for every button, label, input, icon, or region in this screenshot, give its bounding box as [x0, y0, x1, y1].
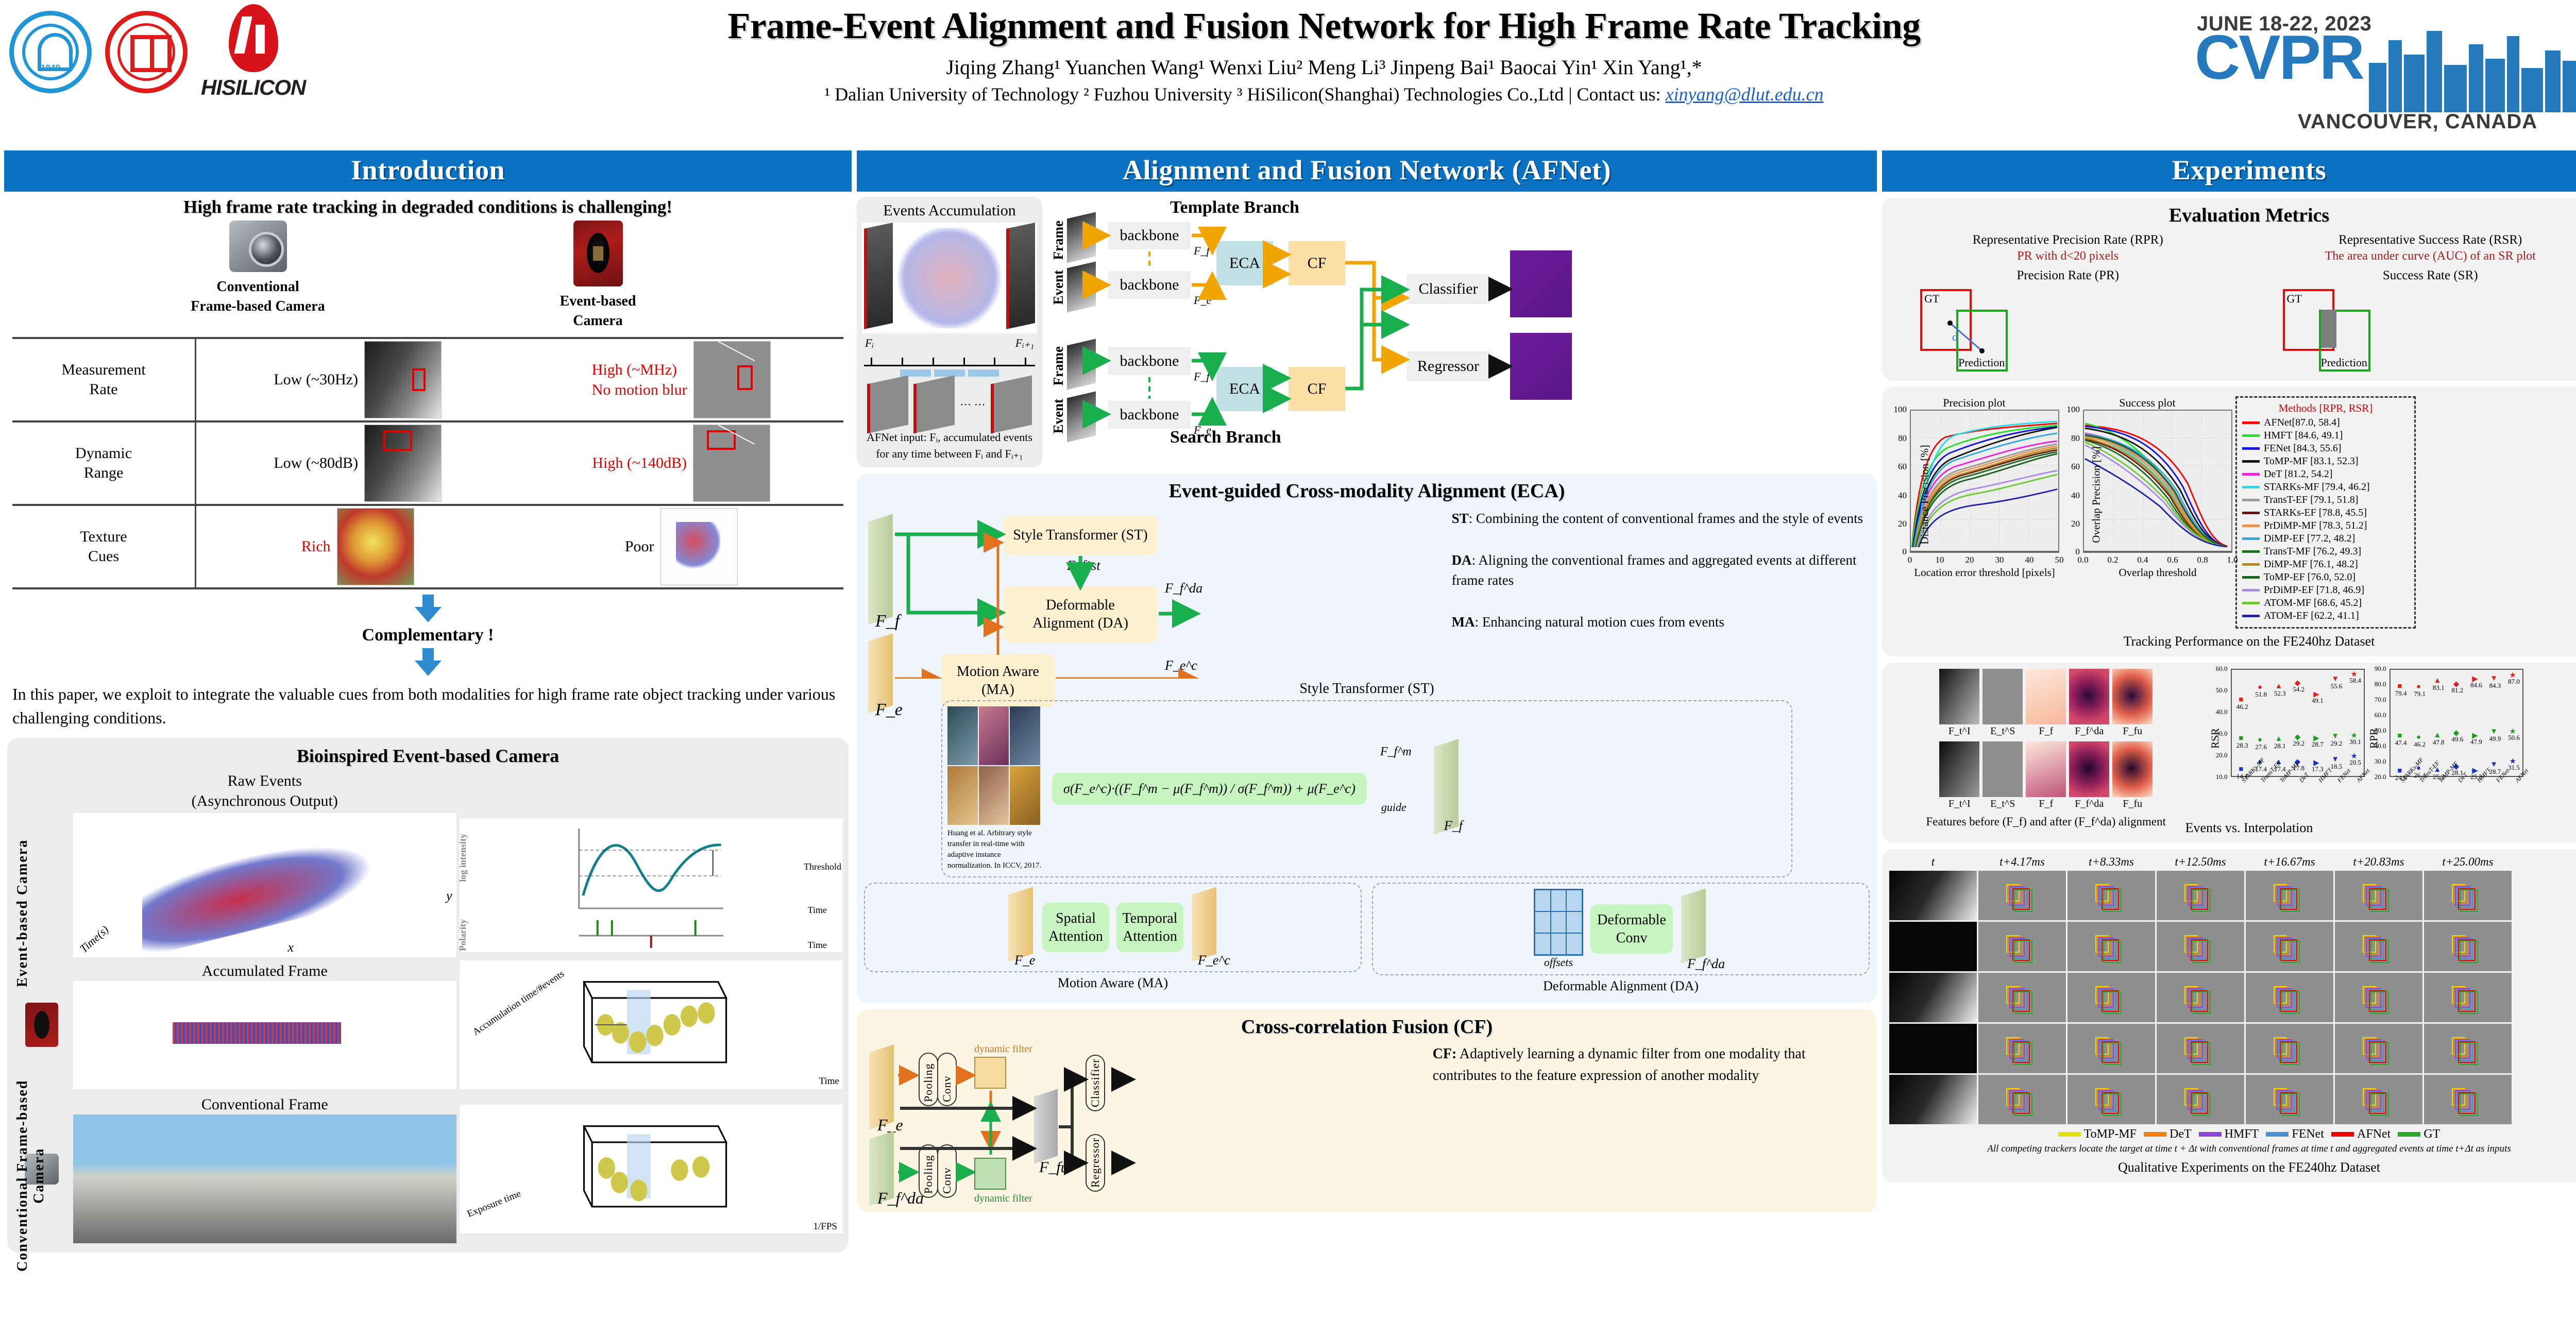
success-plot-title: Success plot — [2062, 396, 2232, 410]
feat-label-1: E_t^S — [1982, 725, 2023, 737]
pr-subtitle: Precision Rate (PR) — [1889, 268, 2247, 283]
scatter-value-label: 49.6 — [2451, 735, 2463, 743]
template-event-backbone: backbone — [1108, 271, 1191, 299]
feat-label-2: F_f — [2026, 725, 2066, 737]
classification-output-map — [1510, 250, 1572, 317]
tracking-performance-card: Precision plot — [1882, 387, 2576, 656]
feature-visualization: F_t^I E_t^S F_f F_f^da F_fu — [1889, 669, 2203, 828]
legend-item: TransT-EF [79.1, 51.8] — [2242, 494, 2409, 506]
qualitative-event-cell — [2424, 973, 2512, 1022]
template-ff-label: F_f — [1194, 244, 1210, 258]
sr-illustration: GT Prediction — [2252, 286, 2576, 374]
st-detail-card: Huang et al. Arbitrary style transfer in… — [941, 700, 1792, 877]
qualitative-note: All competing trackers locate the target… — [1889, 1143, 2576, 1155]
events-accumulation-card: Events Accumulation Fᵢ Fᵢ₊₁ — [857, 197, 1042, 467]
legend-item: DiMP-MF [76.1, 48.2] — [2242, 559, 2409, 570]
legend-item: DiMP-EF [77.2, 48.2] — [2242, 533, 2409, 545]
feat-label-2b: F_f — [2026, 798, 2066, 810]
event-texture-value: Poor — [625, 538, 654, 555]
qualitative-column-header: t — [1889, 855, 1977, 869]
eca-fe-label: F_e — [875, 700, 903, 720]
success-plot: Success plot — [2062, 396, 2232, 629]
frame-dynamic-value: Low (~80dB) — [274, 454, 358, 472]
rsr-y-label: RSR — [2209, 728, 2222, 749]
temporal-attention-block: Temporal Attention — [1116, 903, 1183, 952]
raw-events-caption: Raw Events (Asynchronous Output) — [73, 771, 456, 811]
qualitative-legend-item: FENet — [2266, 1127, 2324, 1141]
row-label-dynamic-range: Dynamic Range — [12, 421, 195, 505]
conventional-camera-label-1: Conventional — [173, 277, 343, 297]
legend-item: ToMP-EF [76.0, 52.0] — [2242, 571, 2409, 583]
event-texture-thumbnail — [660, 508, 738, 585]
complementary-label: Complementary ! — [4, 625, 852, 645]
accumulation-intervals — [862, 369, 1037, 377]
search-event-thumb — [1067, 392, 1096, 443]
da-detail-card: offsets Deformable Conv F_f^da — [1372, 883, 1870, 975]
template-event-thumb — [1067, 262, 1096, 313]
evaluation-metrics-title: Evaluation Metrics — [1889, 204, 2576, 227]
qualitative-event-cell — [2246, 973, 2333, 1022]
scatter-value-label: 17.3 — [2312, 765, 2324, 773]
qualitative-event-cell — [1978, 871, 2066, 920]
qualitative-event-cell — [1978, 973, 2066, 1022]
template-frame-row-label: Frame — [1050, 221, 1066, 260]
qualitative-event-cell — [2067, 922, 2155, 971]
qualitative-legend-item: AFNet — [2331, 1127, 2391, 1141]
frames-ellipsis: ⋯ ⋯ — [960, 398, 986, 411]
qualitative-event-cell — [2157, 1075, 2244, 1124]
affiliation-line: ¹ Dalian University of Technology ² Fuzh… — [453, 83, 2195, 105]
da-out-label: F_f^da — [1687, 956, 1725, 972]
ma-in-label: F_e — [1014, 953, 1035, 968]
style-transfer-examples — [947, 706, 1040, 825]
cf-title: Cross-correlation Fusion (CF) — [864, 1016, 1870, 1038]
qualitative-event-cell — [2246, 871, 2333, 920]
template-branch-title: Template Branch — [1170, 198, 1299, 217]
conventional-frame-caption: Conventional Frame — [73, 1094, 456, 1114]
pr-illustration: GT Prediction d — [1889, 286, 2247, 374]
conventional-camera-label-2: Frame-based Camera — [173, 297, 343, 316]
scatter-value-label: 47.4 — [2395, 739, 2407, 747]
qualitative-caption: Qualitative Experiments on the FE240hz D… — [1889, 1160, 2576, 1175]
event-dynamic-thumbnail — [693, 425, 770, 502]
feat-label-4: F_fu — [2112, 725, 2153, 737]
success-plot-axes — [2083, 410, 2232, 553]
eca-note-st: ST: Combining the content of conventiona… — [1452, 509, 1870, 529]
template-event-row-label: Event — [1050, 270, 1066, 305]
legend-item: PrDiMP-EF [71.8, 46.9] — [2242, 584, 2409, 596]
pr-distance-label: d — [1952, 330, 1958, 344]
camera-comparison-table: Measurement Rate Low (~30Hz) — [12, 337, 843, 589]
row-label-texture-cues: Texture Cues — [12, 505, 195, 588]
regression-output-map — [1510, 333, 1572, 400]
scatter-value-label: 84.3 — [2489, 682, 2501, 690]
vancouver-skyline-icon — [2365, 14, 2576, 112]
offsets-label: offsets — [1534, 956, 1583, 969]
feat-label-0b: F_t^I — [1939, 798, 1979, 810]
template-fe-label: F_e — [1194, 294, 1211, 307]
legend-item: ATOM-EF [62.2, 41.1] — [2242, 610, 2409, 622]
scatter-value-label: 55.6 — [2331, 682, 2343, 690]
qualitative-event-cell — [2157, 1024, 2244, 1073]
side-label-event-camera: Event-based Camera — [14, 800, 31, 1026]
offsets-grid — [1534, 889, 1583, 956]
scatter-value-label: 54.2 — [2293, 685, 2304, 694]
section-bar-afnet: Alignment and Fusion Network (AFNet) — [857, 150, 1877, 192]
qualitative-event-cell — [2246, 1075, 2333, 1124]
eca-card: Event-guided Cross-modality Alignment (E… — [857, 474, 1877, 1003]
qualitative-legend: ToMP-MFDeTHMFTFENetAFNetGT — [1889, 1127, 2576, 1141]
eca-flow-diagram: F_f F_e Style Transformer (ST) Deformabl… — [864, 509, 1442, 679]
bioinspired-panel: Bioinspired Event-based Camera Event-bas… — [7, 738, 849, 1253]
qualitative-event-cell — [2067, 1075, 2155, 1124]
scatter-value-label: 79.4 — [2395, 689, 2407, 698]
qualitative-event-cell — [1978, 1024, 2066, 1073]
legend-item: ToMP-MF [83.1, 52.3] — [2242, 455, 2409, 467]
event-measurement-value: High (~MHz) — [592, 361, 677, 378]
qualitative-frame-cell — [1889, 871, 1977, 920]
qualitative-column-header: t+20.83ms — [2335, 855, 2422, 869]
template-eca-block: ECA — [1216, 241, 1273, 285]
feat-label-3b: F_f^da — [2069, 798, 2109, 810]
eca-title: Event-guided Cross-modality Alignment (E… — [864, 480, 1870, 502]
qualitative-event-cell — [2067, 871, 2155, 920]
experiments-column: Experiments Evaluation Metrics Represent… — [1882, 150, 2576, 1319]
scatter-value-label: 49.1 — [2312, 697, 2324, 705]
rpr-scatter-plot: ■79.4●79.1▲83.1◆81.2▶84.6▼84.3★87.0■47.4… — [2369, 669, 2523, 828]
template-cf-block: CF — [1289, 241, 1345, 285]
qualitative-event-cell — [2424, 871, 2512, 920]
scatter-value-label: 30.1 — [2349, 738, 2361, 746]
introduction-lead: High frame rate tracking in degraded con… — [4, 197, 852, 217]
event-camera-cell: Event-based Camera — [513, 221, 683, 331]
legend-title: Methods [RPR, RSR] — [2242, 402, 2409, 415]
qualitative-row — [1889, 1075, 2576, 1124]
affiliation-text: ¹ Dalian University of Technology ² Fuzh… — [824, 84, 1660, 105]
scatter-value-label: 28.7 — [2312, 740, 2324, 749]
side-label-frame-camera: Conventional Frame-based Camera — [14, 1068, 47, 1284]
scatter-value-label: 31.5 — [2508, 764, 2520, 772]
qualitative-column-header: t+16.67ms — [2246, 855, 2333, 869]
qualitative-event-cell — [2424, 1024, 2512, 1073]
classifier-block: Classifier — [1407, 274, 1489, 304]
event-camera-label-2: Camera — [513, 311, 683, 331]
qualitative-event-cell — [2157, 922, 2244, 971]
st-fm-label: F_f^m — [1380, 745, 1412, 759]
search-frame-thumb — [1067, 339, 1096, 390]
qualitative-legend-item: DeT — [2144, 1127, 2192, 1141]
cell-frame-dynamic-range: Low (~80dB) — [195, 421, 519, 505]
scatter-value-label: 87.0 — [2508, 678, 2520, 686]
st-guide-label: guide — [1381, 801, 1406, 814]
ma-detail-wrapper: F_e Spatial Attention Temporal Attention… — [864, 883, 1362, 994]
template-frame-thumb — [1067, 212, 1096, 263]
cf-flow-diagram: F_e F_f^da Pooling Conv Pooling Conv dyn… — [864, 1043, 1420, 1203]
search-event-backbone: backbone — [1108, 401, 1191, 429]
frame-measurement-thumbnail — [364, 341, 442, 418]
table-row: Dynamic Range Low (~80dB) High — [12, 421, 843, 505]
qualitative-row — [1889, 973, 2576, 1022]
qualitative-event-cell — [2067, 1024, 2155, 1073]
da-out-slab — [1681, 888, 1706, 963]
scatter-value-label: 47.9 — [2470, 738, 2482, 746]
cell-frame-measurement: Low (~30Hz) — [195, 338, 519, 421]
qualitative-legend-item: ToMP-MF — [2058, 1127, 2137, 1141]
qualitative-event-cell — [2335, 922, 2422, 971]
qualitative-row — [1889, 871, 2576, 920]
feature-and-ablation-card: F_t^I E_t^S F_f F_f^da F_fu — [1882, 663, 2576, 843]
sr-gt-label: GT — [2287, 292, 2302, 306]
feat-label-1b: E_t^S — [1982, 798, 2023, 810]
qualitative-event-cell — [2335, 1075, 2422, 1124]
qualitative-row — [1889, 1024, 2576, 1073]
eca-note-da: DA: Aligning the conventional frames and… — [1452, 550, 1870, 590]
hisilicon-wordmark: HISILICON — [201, 75, 306, 100]
scatter-value-label: 28.3 — [2236, 741, 2248, 750]
st-citation: Huang et al. Arbitrary style transfer in… — [947, 828, 1043, 871]
scatter-value-label: 47.8 — [2433, 738, 2445, 747]
legend-item: AFNet[87.0, 58.4] — [2242, 417, 2409, 429]
accumulation-time-box-diagram: Accumulation time/#events Time — [460, 960, 843, 1089]
search-branch-title: Search Branch — [1170, 428, 1281, 447]
introduction-column: Introduction High frame rate tracking in… — [4, 150, 852, 1319]
frame-dynamic-thumbnail — [364, 425, 442, 502]
qualitative-row — [1889, 922, 2576, 971]
contact-email-link[interactable]: xinyang@dlut.edu.cn — [1665, 84, 1823, 105]
qualitative-frame-cell — [1889, 1075, 1977, 1124]
metric-rpr: Representative Precision Rate (RPR) PR w… — [1889, 233, 2247, 374]
qualitative-event-cell — [2067, 973, 2155, 1022]
scatter-value-label: 49.9 — [2489, 735, 2501, 743]
row-label-measurement-rate: Measurement Rate — [12, 338, 195, 421]
precision-x-ticks: 010 2030 4050 — [1910, 553, 2059, 565]
qualitative-legend-item: HMFT — [2199, 1127, 2259, 1141]
event-measurement-thumbnail — [693, 341, 771, 418]
conventional-frame-image — [73, 1114, 456, 1243]
ma-detail-card: F_e Spatial Attention Temporal Attention… — [864, 883, 1362, 972]
legend-item: ATOM-MF [68.6, 45.2] — [2242, 597, 2409, 609]
logo-group: HISILICON — [9, 4, 306, 100]
scatter-value-label: 83.1 — [2433, 684, 2445, 692]
qualitative-event-cell — [2424, 922, 2512, 971]
events-accumulation-title: Events Accumulation — [862, 202, 1037, 219]
legend-item: TransT-MF [76.2, 49.3] — [2242, 546, 2409, 557]
poster-header: HISILICON Frame-Event Alignment and Fusi… — [0, 0, 2576, 147]
precision-y-ticks: 10080 6040 200 — [1889, 410, 1909, 553]
events-accumulation-caption: AFNet input: Fᵢ, accumulated events for … — [862, 429, 1037, 462]
events-vs-interpolation: ■46.2●51.8▲52.3◆54.2▶49.1▼55.6★58.4■28.3… — [2210, 669, 2576, 828]
hisilicon-mark-icon — [229, 4, 278, 72]
cell-frame-texture: Rich — [195, 505, 519, 588]
qualitative-frame-cell — [1889, 922, 1977, 971]
st-ff-label: F_f — [1444, 818, 1463, 834]
frame-end-label: Fᵢ₊₁ — [1015, 336, 1034, 350]
cvpr-city: VANCOUVER, CANADA — [2298, 110, 2537, 133]
precision-plot-title: Precision plot — [1889, 396, 2059, 410]
qualitative-column-header: t+8.33ms — [2067, 855, 2155, 869]
frame-texture-thumbnail — [337, 508, 414, 585]
rpr-heading: Representative Precision Rate (RPR) — [1889, 233, 2247, 247]
event-camera-label-1: Event-based — [513, 292, 683, 311]
cell-event-texture: Poor — [519, 505, 843, 588]
fuzhou-university-logo — [105, 11, 188, 93]
accumulated-frames-row: ⋯ ⋯ — [862, 380, 1037, 429]
conventional-camera-cell: Conventional Frame-based Camera — [173, 221, 343, 331]
qualitative-event-cell — [2335, 871, 2422, 920]
scatter-value-label: 52.3 — [2274, 689, 2286, 698]
event-camera-thumb-icon — [25, 1003, 58, 1047]
legend-item: STARKs-EF [78.8, 45.5] — [2242, 507, 2409, 519]
rsr-definition: The area under curve (AUC) of an SR plot — [2252, 249, 2576, 263]
cvpr-wordmark: CVPR — [2195, 28, 2363, 88]
rsr-scatter-plot: ■46.2●51.8▲52.3◆54.2▶49.1▼55.6★58.4■28.3… — [2210, 669, 2365, 828]
success-y-label: Overlap Precision [%] — [2090, 446, 2103, 543]
scatter-value-label: 50.6 — [2508, 734, 2520, 742]
scatter-value-label: 58.4 — [2349, 677, 2361, 685]
raw-events-3d-plot: y x Time(s) — [73, 813, 456, 957]
regressor-block: Regressor — [1407, 351, 1489, 381]
qualitative-event-cell — [2335, 1024, 2422, 1073]
qualitative-event-cell — [1978, 1075, 2066, 1124]
dalian-university-of-technology-logo — [9, 11, 92, 93]
rsr-heading: Representative Success Rate (RSR) — [2252, 233, 2576, 247]
qualitative-frame-cell — [1889, 1024, 1977, 1073]
search-frame-backbone: backbone — [1108, 347, 1191, 375]
eca-notes: ST: Combining the content of conventiona… — [1452, 509, 1870, 679]
qualitative-event-cell — [2157, 871, 2244, 920]
scatter-value-label: 28.1 — [2274, 742, 2286, 750]
camera-comparison-header: Conventional Frame-based Camera Event-ba… — [4, 221, 852, 331]
bioinspired-title: Bioinspired Event-based Camera — [13, 745, 842, 767]
cell-event-measurement: High (~MHz) No motion blur — [519, 338, 843, 421]
legend-item: FENet [84.3, 55.6] — [2242, 443, 2409, 454]
rpr-y-label: RPR — [2367, 728, 2380, 749]
complementary-arrow-top — [4, 595, 852, 622]
cvpr-logo: JUNE 18-22, 2023 CVPR VANCOUVER, CANADA — [2195, 3, 2576, 141]
conventional-camera-icon — [229, 221, 287, 272]
da-detail-wrapper: offsets Deformable Conv F_f^da Deformabl… — [1372, 883, 1870, 994]
search-event-row-label: Event — [1050, 399, 1066, 434]
tracking-performance-caption: Tracking Performance on the FE240hz Data… — [1889, 634, 2576, 649]
scatter-value-label: 46.2 — [2236, 703, 2248, 711]
table-row: Texture Cues Rich Poor — [12, 505, 843, 588]
scatter-value-label: 29.2 — [2293, 739, 2304, 748]
afnet-architecture-diagram: Template Branch Frame backbone F_f Event… — [1046, 197, 1877, 465]
event-camera-icon — [573, 221, 623, 286]
legend-item: STARKs-MF [79.4, 46.2] — [2242, 481, 2409, 493]
scatter-value-label: 51.8 — [2255, 690, 2267, 699]
qualitative-frame-cell — [1889, 973, 1977, 1022]
search-cf-block: CF — [1289, 367, 1345, 411]
qualitative-column-header: t+4.17ms — [1978, 855, 2066, 869]
accumulated-frame-image — [73, 981, 456, 1089]
ma-out-slab — [1192, 887, 1216, 962]
features-caption: Features before (F_f) and after (F_f^da)… — [1889, 815, 2203, 828]
scatter-value-label: 81.2 — [2451, 686, 2463, 695]
accumulated-frame-caption: Accumulated Frame — [73, 961, 456, 981]
title-block: Frame-Event Alignment and Fusion Network… — [453, 5, 2195, 105]
event-dynamic-value: High (~140dB) — [592, 453, 687, 473]
frame-texture-value: Rich — [301, 536, 331, 556]
success-y-ticks: 10080 6040 200 — [2062, 410, 2082, 553]
event-measurement-value2: No motion blur — [592, 381, 687, 398]
cell-event-dynamic-range: High (~140dB) — [519, 421, 843, 505]
qualitative-event-cell — [2246, 1024, 2333, 1073]
scatter-value-label: 20.5 — [2349, 758, 2361, 767]
qualitative-column-headers: tt+4.17mst+8.33mst+12.50mst+16.67mst+20.… — [1889, 855, 2576, 869]
precision-plot: Precision plot — [1889, 396, 2059, 629]
introduction-paragraph: In this paper, we exploit to integrate t… — [12, 682, 843, 730]
ma-fe-slab — [1008, 887, 1033, 962]
qualitative-event-cell — [2157, 973, 2244, 1022]
scatter-value-label: 27.6 — [2255, 743, 2267, 751]
feat-label-4b: F_fu — [2112, 798, 2153, 810]
metric-rsr: Representative Success Rate (RSR) The ar… — [2252, 233, 2576, 374]
frame-start-label: Fᵢ — [865, 336, 874, 350]
template-frame-backbone: backbone — [1108, 222, 1191, 249]
sr-pred-label: Prediction — [2321, 356, 2367, 369]
qualitative-legend-item: GT — [2398, 1127, 2440, 1141]
qualitative-experiments-card: tt+4.17mst+8.33mst+12.50mst+16.67mst+20.… — [1882, 849, 2576, 1182]
qualitative-event-cell — [1978, 922, 2066, 971]
author-list: Jiqing Zhang¹ Yuanchen Wang¹ Wenxi Liu² … — [453, 55, 2195, 79]
event-generation-graph: log intensity Threshold Time Polarity Ti… — [460, 818, 843, 952]
ma-caption: Motion Aware (MA) — [864, 975, 1362, 991]
eca-note-ma: MA: Enhancing natural motion cues from e… — [1452, 612, 1870, 632]
success-x-ticks: 0.00.2 0.40.6 0.81.0 — [2083, 553, 2232, 565]
frame-measurement-value: Low (~30Hz) — [274, 371, 358, 388]
events-accumulation-cube — [862, 223, 1037, 333]
sr-subtitle: Success Rate (SR) — [2252, 268, 2576, 283]
spatial-attention-block: Spatial Attention — [1042, 903, 1109, 952]
qualitative-event-cell — [2335, 973, 2422, 1022]
scatter-value-label: 29.2 — [2331, 739, 2343, 748]
qualitative-event-cell — [2246, 922, 2333, 971]
search-ff-label: F_f — [1194, 370, 1210, 383]
scatter-value-label: 84.6 — [2470, 681, 2482, 689]
evaluation-metrics-card: Evaluation Metrics Representative Precis… — [1882, 198, 2576, 381]
afnet-column: Alignment and Fusion Network (AFNet) Eve… — [857, 150, 1877, 1319]
table-row: Measurement Rate Low (~30Hz) — [12, 338, 843, 421]
deformable-conv-block: Deformable Conv — [1590, 904, 1673, 954]
adain-formula: σ(F_e^c)·((F_f^m − μ(F_f^m)) / σ(F_f^m))… — [1052, 773, 1367, 805]
hisilicon-logo: HISILICON — [201, 4, 306, 100]
legend-item: HMFT [84.6, 49.1] — [2242, 430, 2409, 442]
page-title: Frame-Event Alignment and Fusion Network… — [453, 5, 2195, 47]
poster-root: HISILICON Frame-Event Alignment and Fusi… — [0, 0, 2576, 1319]
feat-label-0: F_t^I — [1939, 725, 1979, 737]
search-eca-block: ECA — [1216, 367, 1273, 411]
rpr-definition: PR with d<20 pixels — [1889, 249, 2247, 263]
success-x-label: Overlap threshold — [2083, 566, 2232, 579]
qualitative-event-cell — [2424, 1075, 2512, 1124]
precision-y-label: Distance Precision [%] — [1918, 445, 1931, 545]
cf-note: CF: Adaptively learning a dynamic filter… — [1433, 1043, 1870, 1203]
precision-plot-axes — [1910, 410, 2059, 553]
scatter-value-label: 46.2 — [2414, 740, 2426, 749]
complementary-arrow-bottom — [4, 648, 852, 676]
da-caption: Deformable Alignment (DA) — [1372, 978, 1870, 994]
scatter-value-label: 79.1 — [2414, 690, 2426, 698]
feat-label-3: F_f^da — [2069, 725, 2109, 737]
accumulation-timeline — [864, 353, 1035, 366]
section-bar-experiments: Experiments — [1882, 150, 2576, 192]
precision-x-label: Location error threshold [pixels] — [1910, 566, 2059, 579]
legend-item: PrDiMP-MF [78.3, 51.2] — [2242, 520, 2409, 532]
section-bar-introduction: Introduction — [4, 150, 852, 192]
qualitative-column-header: t+12.50ms — [2157, 855, 2244, 869]
legend-item: DeT [81.2, 54.2] — [2242, 468, 2409, 480]
